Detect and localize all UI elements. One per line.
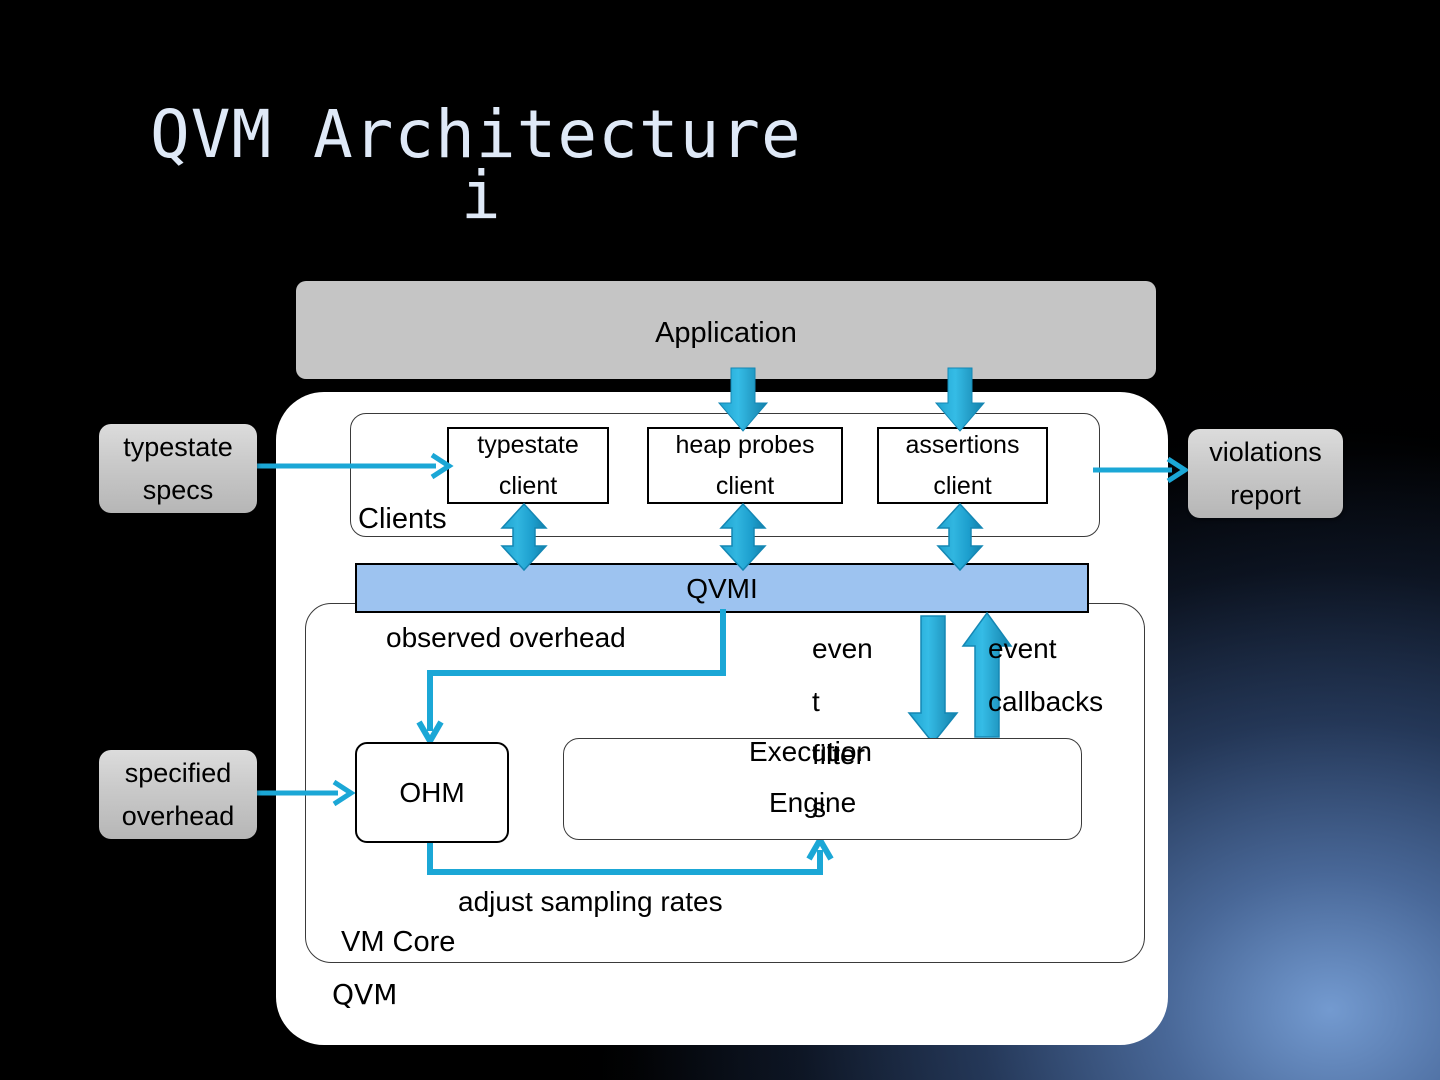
- qvmi-bar[interactable]: QVMI: [355, 563, 1089, 613]
- application-label: Application: [296, 317, 1156, 350]
- client-heap-probes-line2: client: [649, 472, 841, 501]
- ohm-box[interactable]: OHM: [355, 742, 509, 843]
- client-box-assertions[interactable]: assertions client: [877, 427, 1048, 504]
- label-event-callbacks-line1: event: [988, 633, 1057, 665]
- client-typestate-line2: client: [449, 472, 607, 501]
- label-event-callbacks-line2: callbacks: [988, 686, 1103, 718]
- typestate-specs-line1: typestate: [99, 432, 257, 463]
- client-box-heap-probes[interactable]: heap probes client: [647, 427, 843, 504]
- specified-overhead-line1: specified: [99, 758, 257, 789]
- title-text-overlap: i: [461, 157, 502, 234]
- client-assertions-line1: assertions: [879, 431, 1046, 460]
- label-event-filters-line4: s: [812, 792, 826, 824]
- violations-report-line2: report: [1188, 480, 1343, 511]
- client-box-typestate[interactable]: typestate client: [447, 427, 609, 504]
- specified-overhead-line2: overhead: [99, 801, 257, 832]
- label-event-filters-line1: even: [812, 633, 873, 665]
- clients-container-label: Clients: [358, 503, 447, 536]
- vmcore-container-label: VM Core: [341, 926, 455, 959]
- external-box-specified-overhead[interactable]: specified overhead: [99, 750, 257, 839]
- title-text-b: itecture: [476, 96, 802, 173]
- label-observed-overhead: observed overhead: [386, 622, 626, 654]
- qvmi-label: QVMI: [357, 573, 1087, 605]
- title-text-a: QVM Arch: [150, 96, 476, 173]
- slide-canvas: QVM Archiitecture Application Clients ty…: [0, 0, 1440, 1080]
- external-box-typestate-specs[interactable]: typestate specs: [99, 424, 257, 513]
- violations-report-line1: violations: [1188, 437, 1343, 468]
- label-event-filters-line3: filter: [812, 739, 865, 771]
- page-title: QVM Archiitecture: [150, 96, 802, 173]
- ohm-label: OHM: [357, 777, 507, 809]
- application-box[interactable]: Application: [296, 281, 1156, 379]
- client-typestate-line1: typestate: [449, 431, 607, 460]
- client-heap-probes-line1: heap probes: [649, 431, 841, 460]
- qvm-container-label: QVM: [332, 978, 397, 1011]
- client-assertions-line2: client: [879, 472, 1046, 501]
- typestate-specs-line2: specs: [99, 475, 257, 506]
- external-box-violations-report[interactable]: violations report: [1188, 429, 1343, 518]
- label-adjust-sampling-rates: adjust sampling rates: [458, 886, 723, 918]
- label-event-filters-line2: t: [812, 686, 820, 718]
